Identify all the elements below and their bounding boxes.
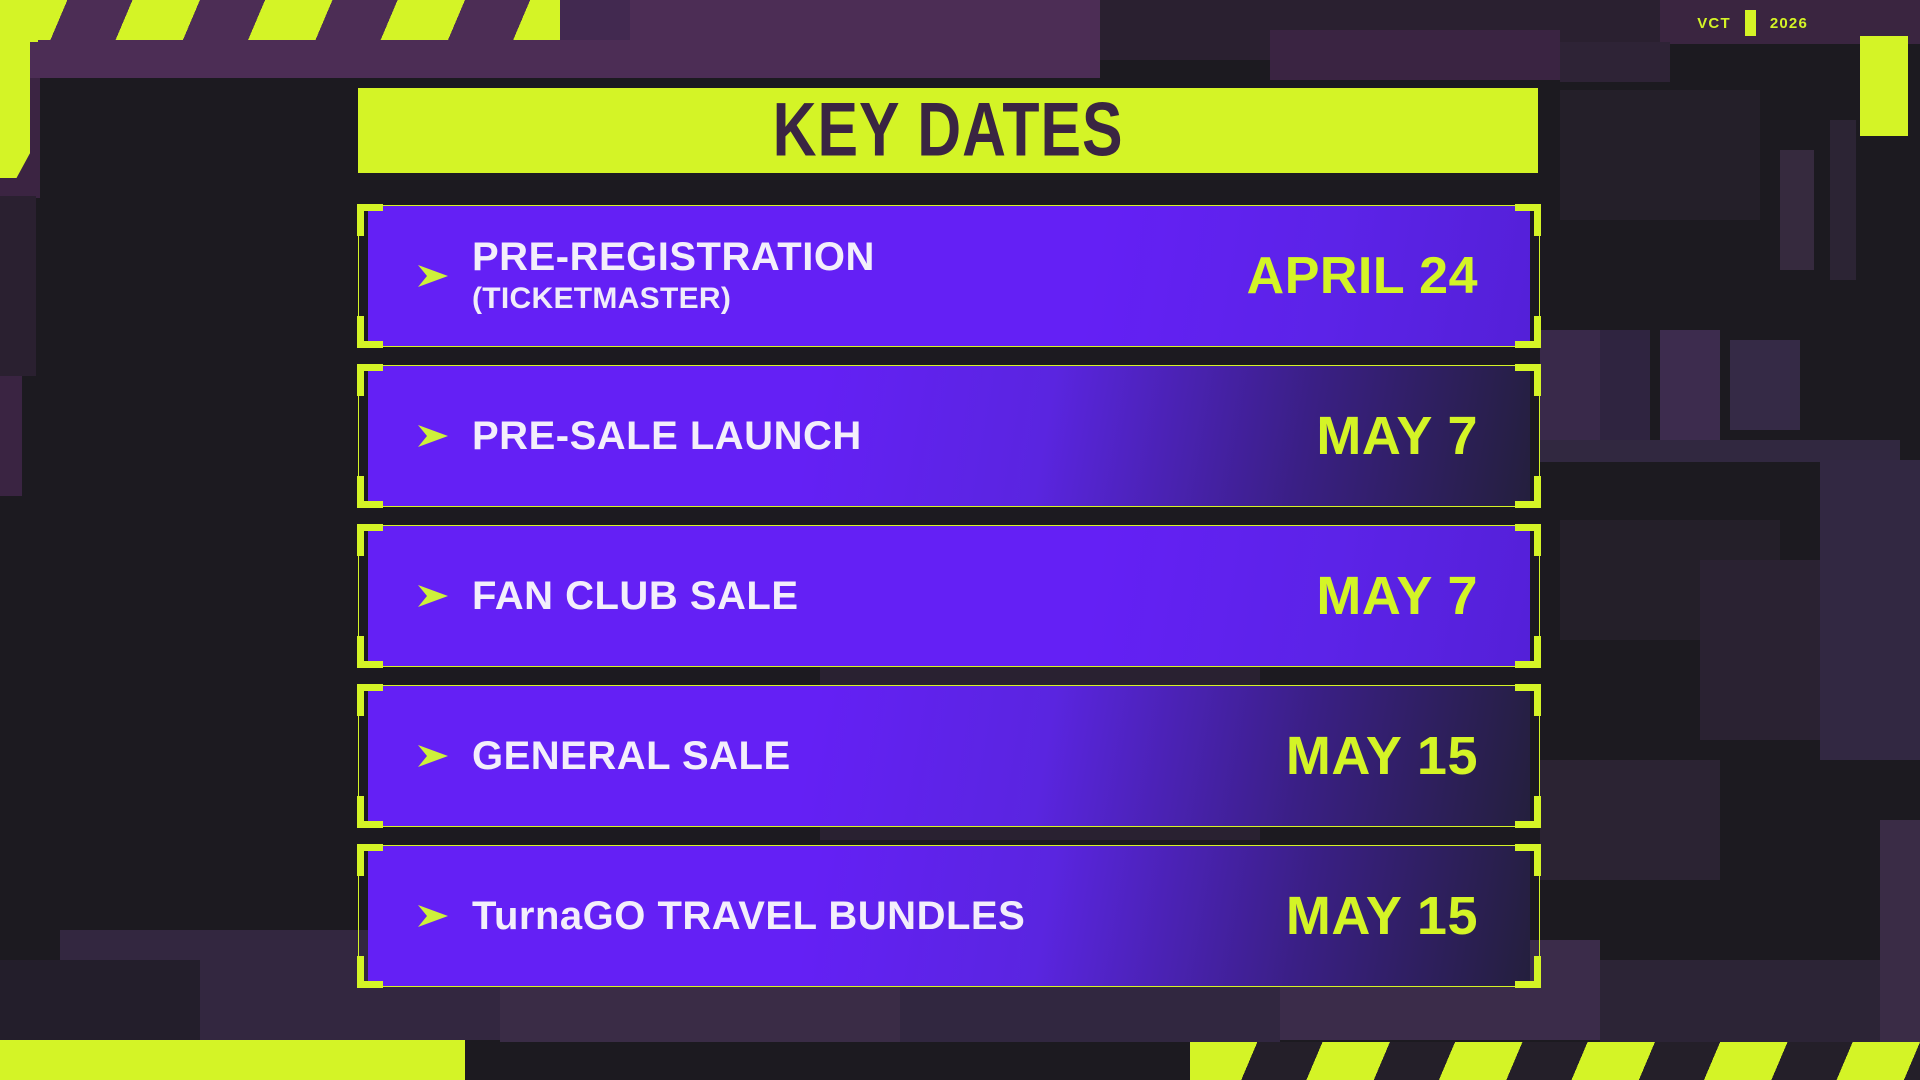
row-date: MAY 15 — [1286, 725, 1478, 787]
row-date: MAY 7 — [1316, 565, 1478, 627]
list-item[interactable]: PRE-SALE LAUNCH MAY 7 — [358, 365, 1540, 507]
hazard-stripe-top-left — [0, 0, 560, 42]
row-label: PRE-SALE LAUNCH — [472, 415, 1316, 457]
accent-bar-bottom-left — [0, 1040, 465, 1080]
row-label: FAN CLUB SALE — [472, 575, 1316, 617]
accent-block-left — [0, 0, 30, 178]
list-item[interactable]: PRE-REGISTRATION (TICKETMASTER) APRIL 24 — [358, 205, 1540, 347]
slide-canvas: VCT 2026 KEY DATES PRE-REGISTRATION (TIC… — [0, 0, 1920, 1080]
row-labels: PRE-SALE LAUNCH — [472, 415, 1316, 457]
play-arrow-icon — [416, 421, 450, 451]
key-dates-list: PRE-REGISTRATION (TICKETMASTER) APRIL 24… — [358, 205, 1540, 1005]
play-arrow-icon — [416, 901, 450, 931]
row-labels: GENERAL SALE — [472, 735, 1286, 777]
row-labels: FAN CLUB SALE — [472, 575, 1316, 617]
row-label: GENERAL SALE — [472, 735, 1286, 777]
play-arrow-icon — [416, 741, 450, 771]
list-item[interactable]: FAN CLUB SALE MAY 7 — [358, 525, 1540, 667]
row-sublabel: (TICKETMASTER) — [472, 282, 1247, 316]
accent-block-right — [1860, 36, 1908, 136]
accent-band-top-left — [38, 40, 658, 75]
play-arrow-icon — [416, 581, 450, 611]
row-labels: TurnaGO TRAVEL BUNDLES — [472, 895, 1286, 937]
play-arrow-icon — [416, 261, 450, 291]
row-labels: PRE-REGISTRATION (TICKETMASTER) — [472, 236, 1247, 316]
vct-logo: VCT 2026 — [1697, 10, 1808, 36]
row-date: MAY 15 — [1286, 885, 1478, 947]
vertical-bar-icon — [1745, 10, 1756, 36]
row-label: TurnaGO TRAVEL BUNDLES — [472, 895, 1286, 937]
brand-name: VCT — [1697, 15, 1731, 32]
brand-year: 2026 — [1770, 15, 1808, 32]
page-title-band: KEY DATES — [358, 88, 1538, 173]
list-item[interactable]: TurnaGO TRAVEL BUNDLES MAY 15 — [358, 845, 1540, 987]
hazard-stripe-bottom-right — [1190, 1042, 1920, 1080]
row-label: PRE-REGISTRATION — [472, 236, 1247, 278]
list-item[interactable]: GENERAL SALE MAY 15 — [358, 685, 1540, 827]
page-title: KEY DATES — [773, 87, 1124, 174]
row-date: MAY 7 — [1316, 405, 1478, 467]
row-date: APRIL 24 — [1247, 246, 1478, 306]
